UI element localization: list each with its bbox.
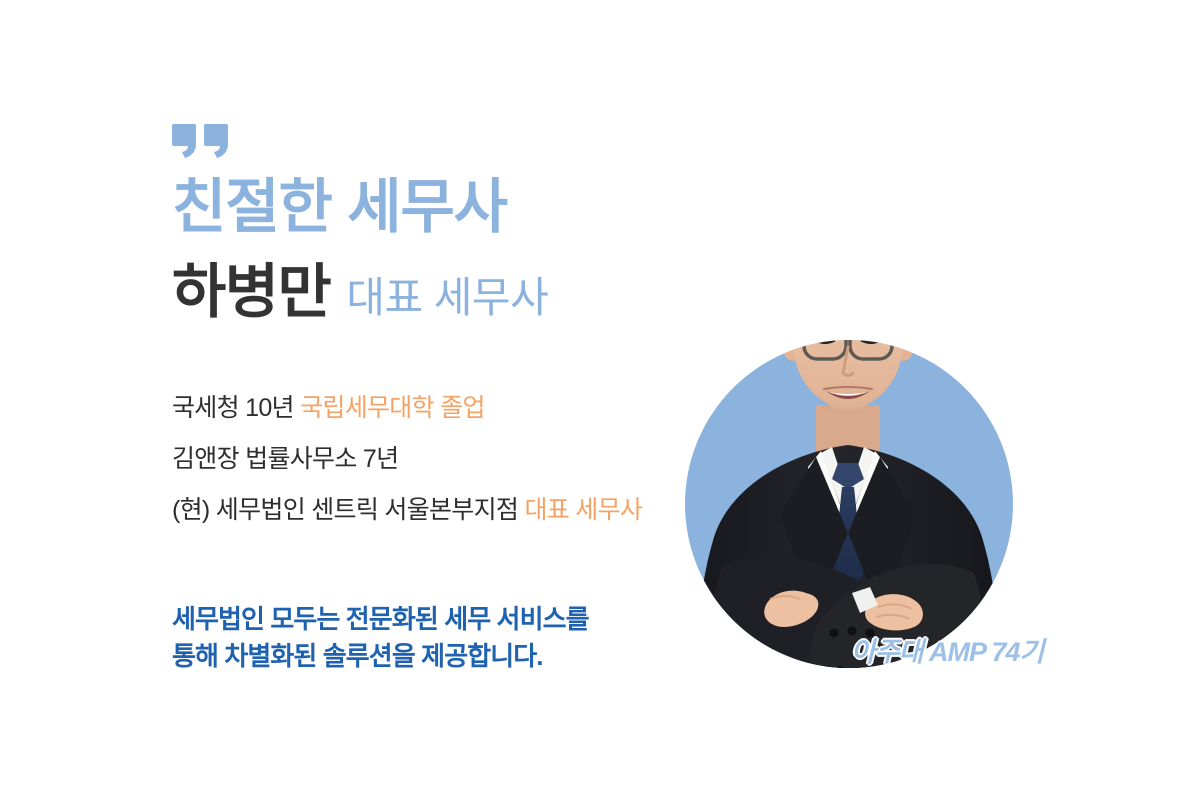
credential-text: 국세청 10년	[172, 394, 300, 422]
credential-text: (현) 세무법인 센트릭 서울본부지점	[172, 496, 524, 524]
credential-accent: 국립세무대학 졸업	[300, 394, 485, 422]
tagline: 세무법인 모두는 전문화된 세무 서비스를 통해 차별화된 솔루션을 제공합니다…	[172, 601, 692, 675]
headline: 친절한 세무사	[172, 178, 692, 237]
person-name: 하병만	[172, 259, 330, 325]
portrait-photo	[638, 195, 1058, 675]
name-line: 하병만대표 세무사	[172, 263, 692, 322]
tagline-line-1: 세무법인 모두는 전문화된 세무 서비스를	[172, 601, 692, 638]
credential-accent: 대표 세무사	[524, 496, 642, 524]
portrait-area: 아주대 AMP 74기	[685, 340, 1013, 668]
profile-banner: 친절한 세무사 하병만대표 세무사 국세청 10년 국립세무대학 졸업 김앤장 …	[0, 0, 1200, 804]
list-item: 국세청 10년 국립세무대학 졸업	[172, 396, 692, 421]
tagline-line-2: 통해 차별화된 솔루션을 제공합니다.	[172, 638, 692, 675]
credential-text: 김앤장 법률사무소 7년	[172, 445, 398, 473]
person-role: 대표 세무사	[346, 274, 548, 321]
text-column: 친절한 세무사 하병만대표 세무사 국세청 10년 국립세무대학 졸업 김앤장 …	[172, 118, 692, 675]
list-item: 김앤장 법률사무소 7년	[172, 447, 692, 472]
list-item: (현) 세무법인 센트릭 서울본부지점 대표 세무사	[172, 498, 692, 523]
opening-quotation-mark-icon	[172, 118, 230, 158]
credentials-list: 국세청 10년 국립세무대학 졸업 김앤장 법률사무소 7년 (현) 세무법인 …	[172, 396, 692, 523]
